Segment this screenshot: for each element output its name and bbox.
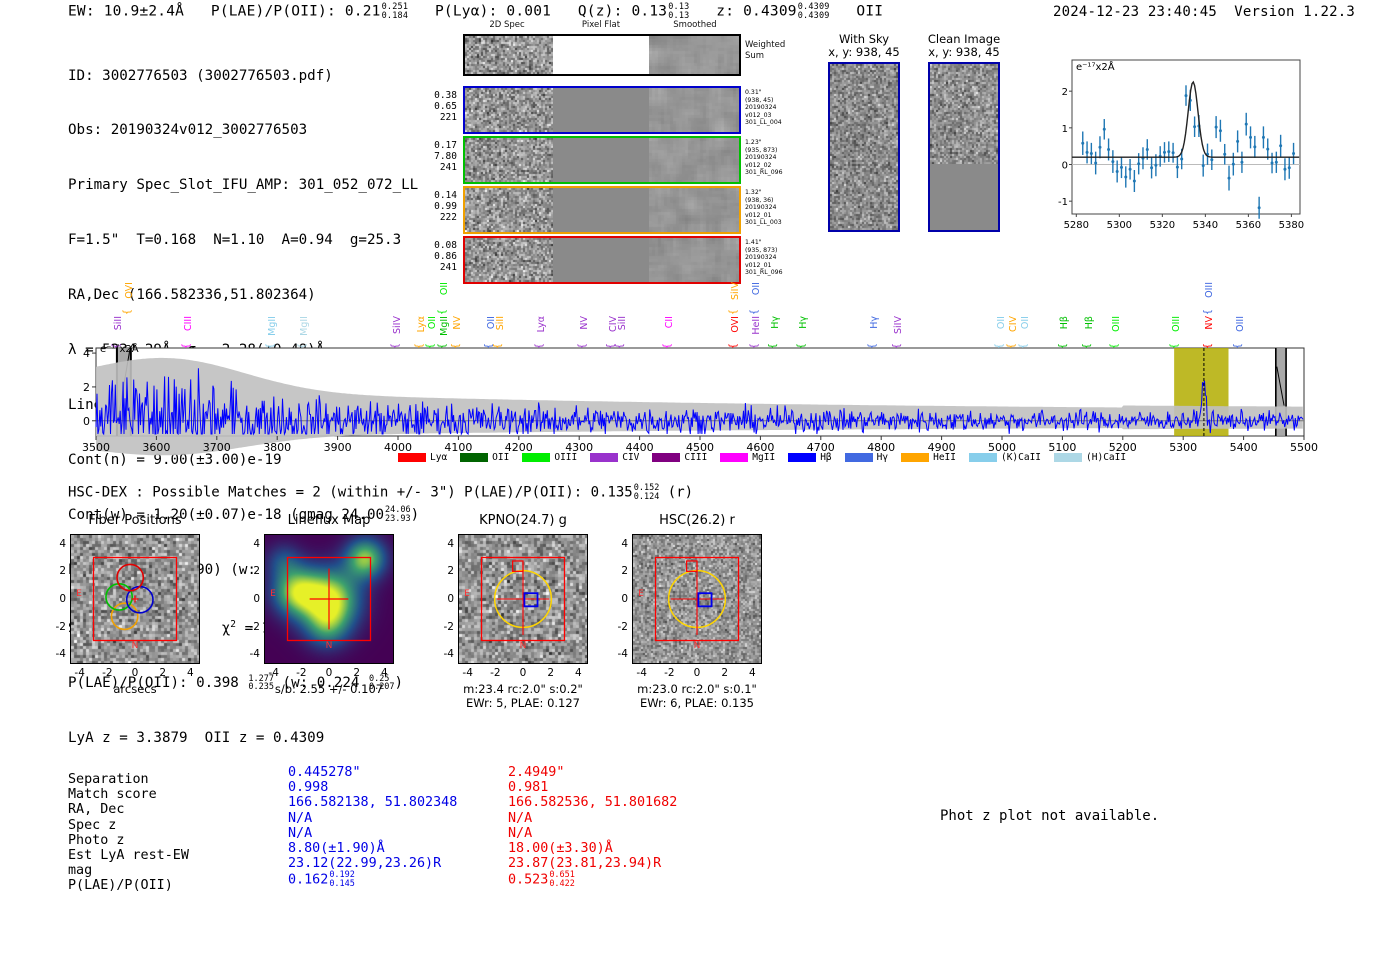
- match-row-value-1: 0.998: [288, 780, 328, 795]
- svg-text:E: E: [464, 589, 470, 599]
- match-row-value-1: N/A: [288, 811, 312, 826]
- cutout-caption: s/b: 2.55 +/- 0.107: [230, 682, 428, 696]
- match-row-value-2: 18.00(±3.30)Å: [508, 841, 613, 856]
- cutout-xtick: 0: [688, 667, 706, 679]
- cutout-xtick: -2: [292, 667, 310, 679]
- cutout-xtick: -4: [633, 667, 651, 679]
- cutout-panels: Fiber PositionsNE-4-4-2-2002244arcsecsLi…: [0, 0, 1400, 760]
- cutout-title: HSC(26.2) r: [602, 513, 792, 528]
- cutout-ytick: 4: [436, 538, 454, 550]
- svg-text:E: E: [638, 589, 644, 599]
- match-row-value-2: 23.87(23.81,23.94)R: [508, 856, 661, 871]
- cutout-ytick: -2: [242, 621, 260, 633]
- cutout-overlay: NE: [458, 534, 588, 664]
- match-row-label: Match score: [68, 787, 157, 802]
- match-row-value-1: 0.1620.1920.145: [288, 871, 355, 888]
- cutout-xtick: -4: [459, 667, 477, 679]
- cutout-xtick: -4: [265, 667, 283, 679]
- cutout-xtick: 2: [154, 667, 172, 679]
- match-row-label: mag: [68, 863, 92, 878]
- cutout-ytick: -2: [48, 621, 66, 633]
- cutout-xtick: -2: [486, 667, 504, 679]
- cutout-ytick: -4: [48, 648, 66, 660]
- cutout-xtick: 2: [348, 667, 366, 679]
- match-row-value-2: N/A: [508, 826, 532, 841]
- svg-text:N: N: [520, 641, 527, 651]
- cutout-title: Lineflux Map: [234, 513, 424, 528]
- cutout-xtick: 2: [542, 667, 560, 679]
- cutout-overlay: NE: [264, 534, 394, 664]
- match-row-label: Separation: [68, 772, 149, 787]
- cutout-caption: m:23.0 rc:2.0" s:0.1": [598, 682, 796, 696]
- cutout-title: KPNO(24.7) g: [428, 513, 618, 528]
- cutout-ytick: 0: [242, 593, 260, 605]
- cutout-ytick: 2: [48, 565, 66, 577]
- cutout-ytick: 0: [48, 593, 66, 605]
- cutout-overlay: NE: [70, 534, 200, 664]
- cutout-xtick: 4: [181, 667, 199, 679]
- cutout-ytick: 2: [242, 565, 260, 577]
- match-row-value-1: 0.445278": [288, 765, 361, 780]
- cutout-xlabel: arcsecs: [40, 682, 230, 696]
- match-row-value-1: 23.12(22.99,23.26)R: [288, 856, 441, 871]
- match-row-label: Photo z: [68, 833, 124, 848]
- cutout-xtick: 0: [514, 667, 532, 679]
- match-row-value-2: 0.981: [508, 780, 548, 795]
- cutout-ytick: 0: [436, 593, 454, 605]
- photz-note: Phot z plot not available.: [940, 808, 1159, 824]
- cutout-xtick: 0: [126, 667, 144, 679]
- cutout-xtick: 0: [320, 667, 338, 679]
- match-row-label: RA, Dec: [68, 802, 124, 817]
- cutout-ytick: 4: [242, 538, 260, 550]
- match-row-value-2: 166.582536, 51.801682: [508, 795, 677, 810]
- match-row-label: P(LAE)/P(OII): [68, 878, 173, 893]
- cutout-caption: EWr: 6, PLAE: 0.135: [598, 696, 796, 710]
- match-row-label: Est LyA rest-EW: [68, 848, 189, 863]
- cutout-ytick: 2: [436, 565, 454, 577]
- cutout-ytick: -4: [242, 648, 260, 660]
- cutout-xtick: 4: [569, 667, 587, 679]
- cutout-ytick: -4: [436, 648, 454, 660]
- cutout-xtick: -2: [660, 667, 678, 679]
- cutout-overlay: NE: [632, 534, 762, 664]
- cutout-ytick: 2: [610, 565, 628, 577]
- match-row-value-2: 2.4949": [508, 765, 564, 780]
- cutout-caption: EWr: 5, PLAE: 0.127: [424, 696, 622, 710]
- svg-text:N: N: [132, 641, 139, 651]
- match-row-label: Spec z: [68, 818, 116, 833]
- svg-text:E: E: [76, 589, 82, 599]
- svg-text:N: N: [694, 641, 701, 651]
- cutout-xtick: -4: [71, 667, 89, 679]
- svg-text:E: E: [270, 589, 276, 599]
- cutout-xtick: 4: [375, 667, 393, 679]
- match-row-value-1: 166.582138, 51.802348: [288, 795, 457, 810]
- cutout-xtick: 4: [743, 667, 761, 679]
- cutout-ytick: -2: [610, 621, 628, 633]
- match-row-value-1: 8.80(±1.90)Å: [288, 841, 385, 856]
- cutout-xtick: 2: [716, 667, 734, 679]
- cutout-xtick: -2: [98, 667, 116, 679]
- cutout-ytick: 4: [48, 538, 66, 550]
- match-row-value-2: N/A: [508, 811, 532, 826]
- cutout-ytick: -2: [436, 621, 454, 633]
- cutout-caption: m:23.4 rc:2.0" s:0.2": [424, 682, 622, 696]
- cutout-ytick: 4: [610, 538, 628, 550]
- match-row-value-2: 0.5230.6510.422: [508, 871, 575, 888]
- cutout-ytick: 0: [610, 593, 628, 605]
- svg-text:N: N: [326, 641, 333, 651]
- cutout-ytick: -4: [610, 648, 628, 660]
- match-row-value-1: N/A: [288, 826, 312, 841]
- cutout-title: Fiber Positions: [40, 513, 230, 528]
